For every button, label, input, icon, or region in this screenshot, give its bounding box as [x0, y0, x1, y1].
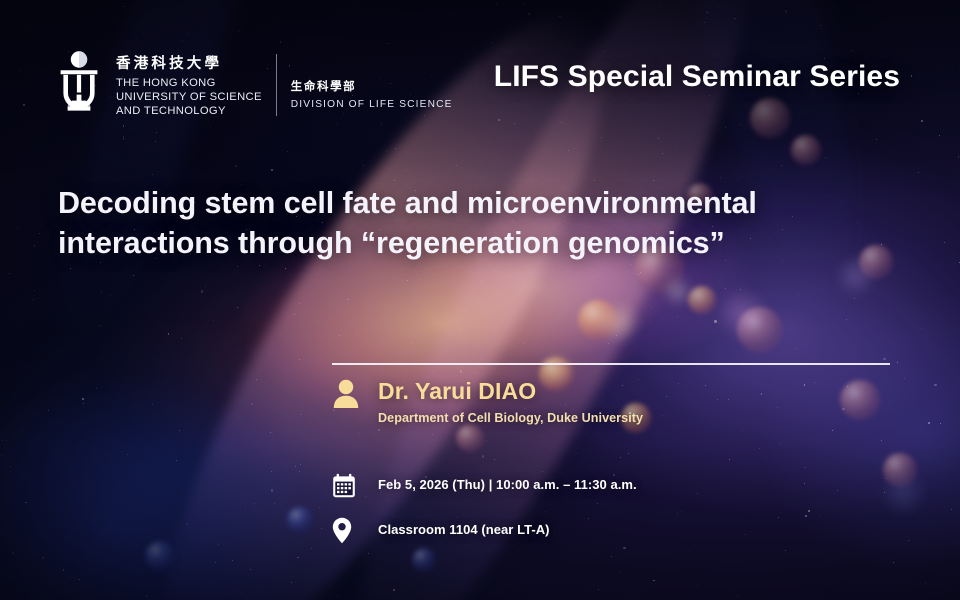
calendar-icon — [332, 473, 356, 498]
seminar-details: Dr. Yarui DIAO Department of Cell Biolog… — [332, 378, 892, 430]
university-name-en-line-1: THE HONG KONG — [116, 76, 262, 90]
university-name-block: 香港科技大學 THE HONG KONG UNIVERSITY OF SCIEN… — [116, 50, 262, 118]
schedule-text: Feb 5, 2026 (Thu) | 10:00 a.m. – 11:30 a… — [378, 477, 637, 492]
schedule-text-block: Feb 5, 2026 (Thu) | 10:00 a.m. – 11:30 a… — [378, 473, 637, 492]
calendar-icon-slot — [332, 473, 378, 497]
seminar-headline: Decoding stem cell fate and microenviron… — [58, 184, 888, 263]
location-icon-slot — [332, 518, 378, 542]
lockup-separator — [276, 54, 277, 116]
venue-text: Classroom 1104 (near LT-A) — [378, 522, 550, 537]
university-name-en-line-3: AND TECHNOLOGY — [116, 104, 262, 118]
section-divider — [332, 363, 890, 365]
speaker-text-block: Dr. Yarui DIAO Department of Cell Biolog… — [378, 378, 643, 425]
speaker-name: Dr. Yarui DIAO — [378, 379, 643, 405]
logo-lockup: 香港科技大學 THE HONG KONG UNIVERSITY OF SCIEN… — [56, 50, 453, 118]
speaker-affiliation: Department of Cell Biology, Duke Univers… — [378, 411, 643, 425]
division-name-en: DIVISION OF LIFE SCIENCE — [291, 99, 453, 110]
university-name-en-line-2: UNIVERSITY OF SCIENCE — [116, 90, 262, 104]
series-title: LIFS Special Seminar Series — [494, 60, 900, 94]
division-name-block: 生命科學部 DIVISION OF LIFE SCIENCE — [291, 50, 453, 110]
speaker-row: Dr. Yarui DIAO Department of Cell Biolog… — [332, 378, 892, 430]
poster-content: 香港科技大學 THE HONG KONG UNIVERSITY OF SCIEN… — [0, 0, 960, 600]
seminar-poster: 香港科技大學 THE HONG KONG UNIVERSITY OF SCIEN… — [0, 0, 960, 600]
headline-line-1: Decoding stem cell fate and microenviron… — [58, 186, 757, 220]
hkust-crest-icon — [56, 50, 102, 112]
division-name-zh: 生命科學部 — [291, 81, 453, 95]
location-pin-icon — [332, 517, 352, 544]
headline-line-2: interactions through “regeneration genom… — [58, 224, 888, 264]
venue-row: Classroom 1104 (near LT-A) — [332, 518, 892, 542]
university-name-en: THE HONG KONG UNIVERSITY OF SCIENCE AND … — [116, 76, 262, 118]
schedule-row: Feb 5, 2026 (Thu) | 10:00 a.m. – 11:30 a… — [332, 473, 892, 497]
speaker-icon-slot — [332, 378, 378, 408]
person-icon — [332, 378, 360, 408]
venue-text-block: Classroom 1104 (near LT-A) — [378, 518, 550, 537]
university-name-zh: 香港科技大學 — [116, 56, 262, 73]
